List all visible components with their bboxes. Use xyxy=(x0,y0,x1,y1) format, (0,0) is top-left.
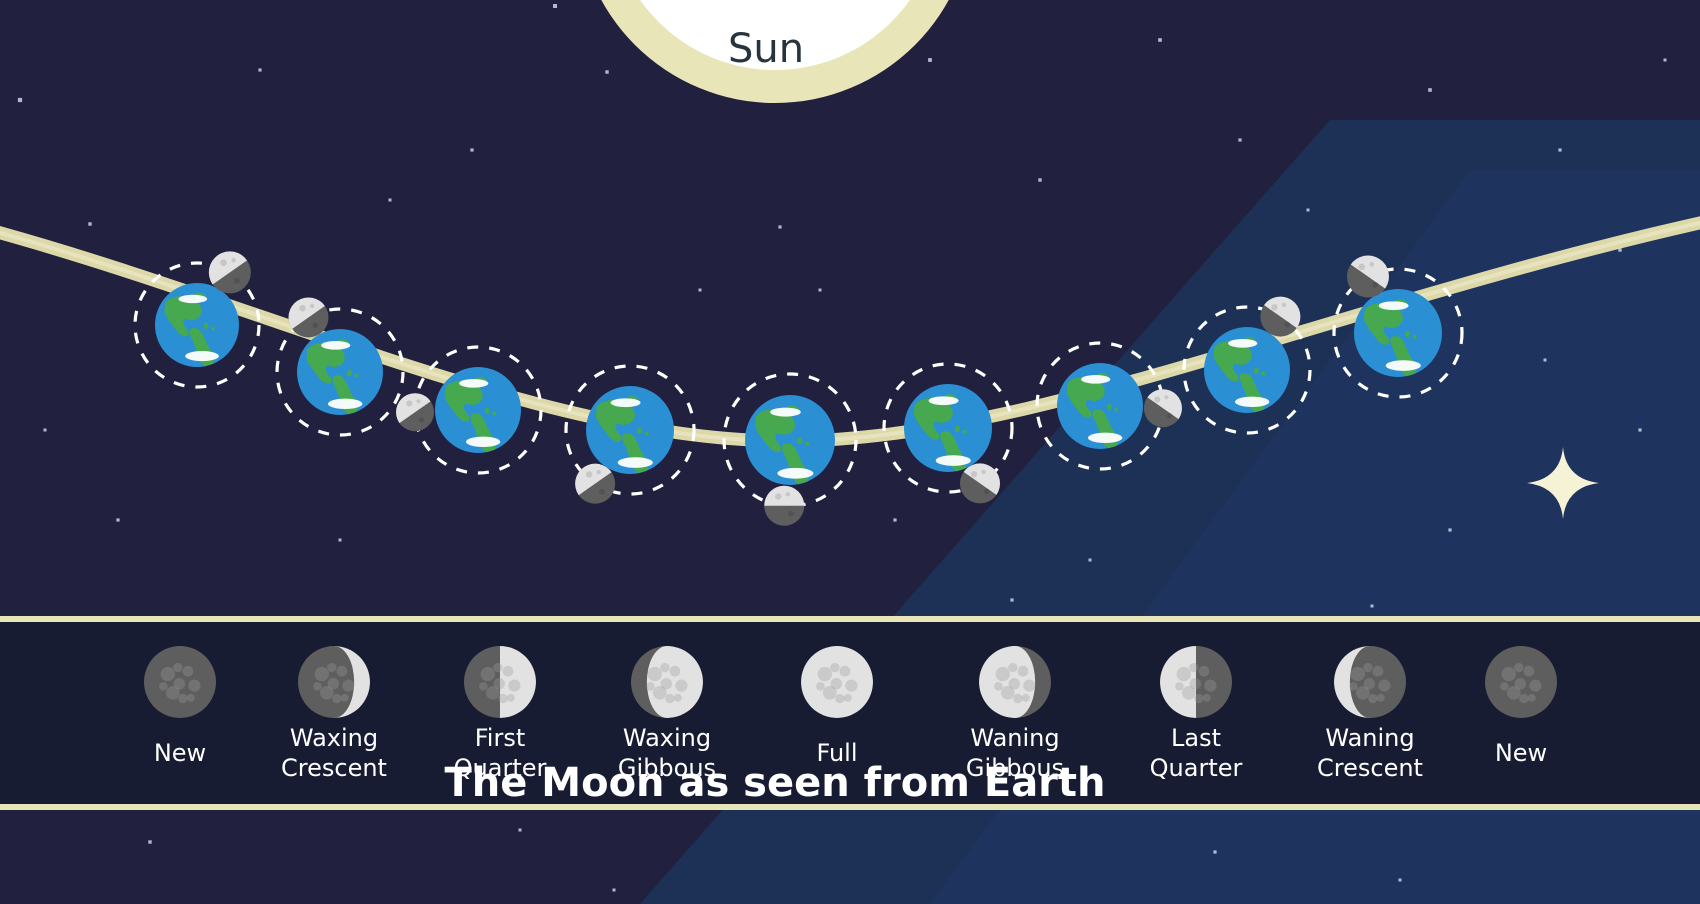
moon-crater xyxy=(844,694,852,702)
moon-crater xyxy=(183,666,194,677)
moon-crater xyxy=(646,682,655,691)
star xyxy=(339,539,342,542)
moon-crater xyxy=(1363,663,1372,672)
caption: The Moon as seen from Earth xyxy=(444,760,1105,806)
moon-crater xyxy=(161,667,175,681)
star xyxy=(1544,359,1547,362)
legend-item[interactable]: New xyxy=(144,646,216,767)
star xyxy=(1010,598,1013,601)
moon-crater xyxy=(493,663,502,672)
moon-crater xyxy=(310,304,314,308)
earth-cloud xyxy=(611,398,641,407)
earth-cloud xyxy=(1379,301,1409,310)
star xyxy=(553,4,557,8)
moon-crater xyxy=(1167,413,1172,418)
moon-crater xyxy=(178,694,187,703)
star xyxy=(1307,209,1310,212)
moon-crater xyxy=(1529,679,1541,691)
legend-label-line1: Waxing xyxy=(290,724,378,752)
star xyxy=(1371,605,1374,608)
moon-crater xyxy=(1364,678,1376,690)
earth-cloud xyxy=(185,351,219,361)
moon-crater xyxy=(661,678,673,690)
moon-crater xyxy=(341,694,349,702)
moon-crater xyxy=(508,679,520,691)
moon-crater xyxy=(1190,678,1202,690)
star xyxy=(18,98,22,102)
moon-crater xyxy=(1368,694,1377,703)
star xyxy=(1448,528,1451,531)
moon-crater xyxy=(332,694,341,703)
legend-item[interactable]: New xyxy=(1485,646,1557,767)
legend-moon xyxy=(1334,646,1406,718)
star xyxy=(1089,559,1092,562)
moon-crater xyxy=(494,678,506,690)
star xyxy=(116,518,119,521)
moon-crater xyxy=(231,258,236,263)
moon-crater xyxy=(984,489,990,495)
caption-text: The Moon as seen from Earth xyxy=(444,760,1105,806)
moon-crater xyxy=(481,667,495,681)
legend-label-line2: Quarter xyxy=(1150,754,1243,782)
moon-crater xyxy=(1177,667,1191,681)
moon-crater xyxy=(1282,303,1286,307)
legend-label-line1: First xyxy=(475,724,526,752)
earth-cloud xyxy=(466,437,500,447)
moon-crater xyxy=(1271,304,1277,310)
moon-crater xyxy=(1284,322,1290,328)
legend-moon xyxy=(801,646,873,718)
moon-crater xyxy=(1199,666,1210,677)
star xyxy=(893,518,896,521)
star xyxy=(519,829,522,832)
legend-label-line1: Waning xyxy=(970,724,1059,752)
legend-label-line1: New xyxy=(1495,739,1547,767)
moon-crater xyxy=(1502,667,1516,681)
moon-crater xyxy=(1022,694,1030,702)
star xyxy=(613,889,616,892)
star xyxy=(1558,148,1561,151)
moon-crater xyxy=(831,678,843,690)
moon-crater xyxy=(994,682,1003,691)
moon-crater xyxy=(835,694,844,703)
moon-crater xyxy=(981,470,985,474)
moon-crater xyxy=(419,417,424,422)
moon-crater xyxy=(188,679,200,691)
moon-crater xyxy=(174,678,186,690)
moon-crater xyxy=(159,682,168,691)
moon-crater xyxy=(1377,694,1385,702)
star xyxy=(88,222,91,225)
moon-crater xyxy=(1018,666,1029,677)
moon-crater xyxy=(313,682,322,691)
moon-crater xyxy=(1524,666,1535,677)
moon-crater xyxy=(845,679,857,691)
moon-crater xyxy=(327,663,336,672)
star xyxy=(699,289,702,292)
moon-crater xyxy=(220,259,227,266)
sun-label: Sun xyxy=(728,26,804,72)
moon-crater xyxy=(648,667,662,681)
moon-crater xyxy=(498,694,507,703)
legend-label-line1: Waxing xyxy=(623,724,711,752)
star xyxy=(44,429,47,432)
star xyxy=(1428,88,1432,92)
moon-crater xyxy=(996,667,1010,681)
moon-crater xyxy=(775,493,781,499)
moon-crater xyxy=(342,679,354,691)
moon-crater xyxy=(337,666,348,677)
earth-cloud xyxy=(1235,397,1269,407)
moon-crater xyxy=(1358,263,1365,270)
star xyxy=(1638,428,1641,431)
moon-crater xyxy=(299,305,305,311)
moon-crater xyxy=(786,492,790,496)
star xyxy=(258,68,261,71)
legend-label-line1: Waning xyxy=(1325,724,1414,752)
earth-cloud xyxy=(770,408,801,417)
star xyxy=(1213,850,1216,853)
legend-moon xyxy=(631,646,703,718)
earth-cloud xyxy=(618,457,653,468)
moon-crater xyxy=(503,666,514,677)
moon-crater xyxy=(599,489,605,495)
earth-cloud xyxy=(1088,433,1122,443)
moon-crater xyxy=(665,694,674,703)
moon-crater xyxy=(840,666,851,677)
star xyxy=(148,840,151,843)
moon-crater xyxy=(971,471,977,477)
moon-crater xyxy=(1023,679,1035,691)
moon-phases-infographic: SunNewWaxingCrescentFirstQuarterWaxingGi… xyxy=(0,0,1700,904)
star xyxy=(928,58,932,62)
moon-crater xyxy=(315,667,329,681)
moon-crater xyxy=(660,663,669,672)
moon-crater xyxy=(1369,262,1374,267)
star xyxy=(1399,879,1402,882)
moon-crater xyxy=(328,678,340,690)
moon-crater xyxy=(675,679,687,691)
legend-divider-top xyxy=(0,616,1700,622)
moon-crater xyxy=(1009,678,1021,690)
moon-crater xyxy=(1519,694,1528,703)
earth-cloud xyxy=(328,399,362,409)
earth-cloud xyxy=(1228,339,1257,348)
star xyxy=(389,199,392,202)
moon-crater xyxy=(1349,682,1358,691)
star xyxy=(1664,59,1667,62)
earth-cloud xyxy=(179,295,208,303)
legend-moon xyxy=(979,646,1051,718)
earth-cloud xyxy=(321,341,350,350)
legend-label-line1: New xyxy=(154,739,206,767)
moon-crater xyxy=(416,399,420,403)
legend-label-line2: Crescent xyxy=(281,754,387,782)
legend-moon xyxy=(1485,646,1557,718)
moon-crater xyxy=(507,694,515,702)
moon-crater xyxy=(1514,663,1523,672)
legend-moon xyxy=(298,646,370,718)
moon-crater xyxy=(1164,395,1168,399)
star xyxy=(819,289,822,292)
moon-crater xyxy=(1500,682,1509,691)
earth-cloud xyxy=(777,468,813,479)
earth-cloud xyxy=(929,396,959,405)
moon-crater xyxy=(674,694,682,702)
star xyxy=(470,148,473,151)
moon-crater xyxy=(479,682,488,691)
legend-label-line1: Last xyxy=(1171,724,1221,752)
star xyxy=(1238,138,1241,141)
earth-cloud xyxy=(459,379,488,388)
star xyxy=(605,70,608,73)
moon-crater xyxy=(234,278,240,284)
moon-crater xyxy=(1372,282,1378,288)
moon-crater xyxy=(1351,667,1365,681)
moon-crater xyxy=(1175,682,1184,691)
star xyxy=(778,225,781,228)
moon-crater xyxy=(1204,679,1216,691)
moon-crater xyxy=(818,667,832,681)
legend-label-line2: Crescent xyxy=(1317,754,1423,782)
legend-moon xyxy=(1160,646,1232,718)
legend-moon xyxy=(144,646,216,718)
moon-crater xyxy=(670,666,681,677)
moon-crater xyxy=(597,470,601,474)
star xyxy=(1038,178,1041,181)
moon-crater xyxy=(1515,678,1527,690)
moon-crater xyxy=(1154,396,1160,402)
moon-crater xyxy=(173,663,182,672)
moon-crater xyxy=(1373,666,1384,677)
earth-cloud xyxy=(936,455,971,466)
star xyxy=(1158,38,1162,42)
moon-crater xyxy=(816,682,825,691)
moon-crater xyxy=(406,400,412,406)
moon-crater xyxy=(187,694,195,702)
moon-crater xyxy=(1008,663,1017,672)
earth-cloud xyxy=(1081,375,1110,384)
moon-crater xyxy=(1528,694,1536,702)
moon-crater xyxy=(313,323,319,329)
moon-crater xyxy=(1378,679,1390,691)
moon-crater xyxy=(788,511,794,517)
earth-cloud xyxy=(1386,360,1421,371)
moon-crater xyxy=(1194,694,1203,703)
moon-crater xyxy=(1189,663,1198,672)
legend-moon xyxy=(464,646,536,718)
moon-crater xyxy=(1203,694,1211,702)
moon-crater xyxy=(586,471,592,477)
moon-crater xyxy=(830,663,839,672)
moon-crater xyxy=(1013,694,1022,703)
